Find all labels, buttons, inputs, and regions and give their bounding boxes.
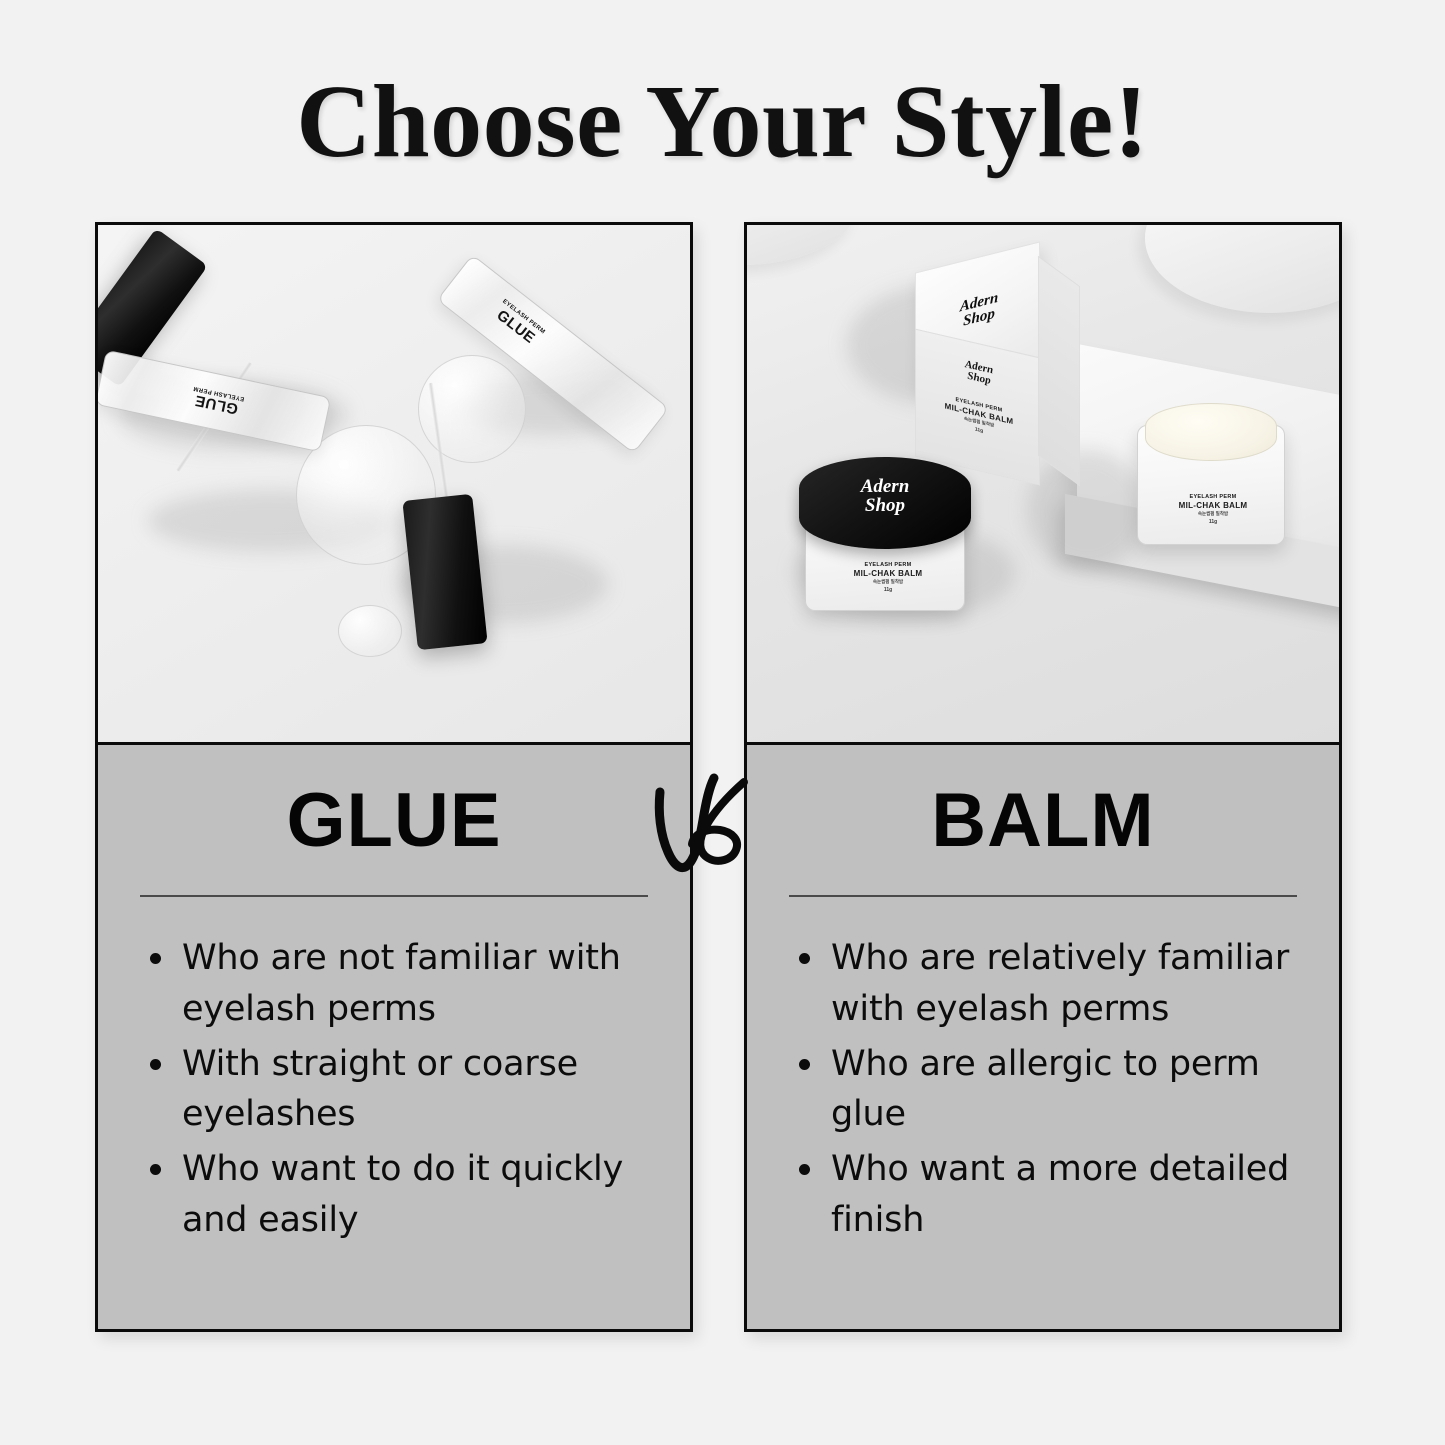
bullet-list-balm: Who are relatively familiar with eyelash… (791, 933, 1305, 1250)
brand-logo: Adern Shop (942, 354, 1016, 393)
title-divider (140, 895, 648, 897)
balm-jar-lid: Adern Shop (799, 457, 971, 549)
list-item: Who are relatively familiar with eyelash… (791, 933, 1305, 1035)
panel-content-glue: GLUE Who are not familiar with eyelash p… (98, 745, 690, 1329)
glue-cap (402, 494, 487, 650)
comparison-container: GLUE EYELASH PERM EYELASH PERM GLUE GLUE… (95, 222, 1342, 1332)
bullet-list-glue: Who are not familiar with eyelash perms … (142, 933, 656, 1250)
balm-jar-label: EYELASH PERM MIL-CHAK BALM 속눈썹펌 밀착밤 11g (1168, 494, 1258, 525)
page-title: Choose Your Style! (0, 70, 1445, 174)
backdrop-disc (1145, 225, 1339, 313)
glass-droplet-icon (338, 605, 402, 657)
brand-logo: Adern Shop (837, 477, 933, 515)
list-item: Who are allergic to perm glue (791, 1039, 1305, 1141)
panel-glue: GLUE EYELASH PERM EYELASH PERM GLUE GLUE… (95, 222, 693, 1332)
product-photo-balm: Adern Shop Adern Shop EYELASH PERM MIL-C… (747, 225, 1339, 745)
title-divider (789, 895, 1297, 897)
category-title-balm: BALM (781, 783, 1305, 859)
panel-balm: Adern Shop Adern Shop EYELASH PERM MIL-C… (744, 222, 1342, 1332)
category-title-glue: GLUE (132, 783, 656, 859)
product-box-side (1038, 256, 1080, 487)
glue-tube-label: GLUE EYELASH PERM (189, 384, 245, 418)
list-item: Who are not familiar with eyelash perms (142, 933, 656, 1035)
photo-shadow (1027, 450, 1147, 570)
panel-content-balm: BALM Who are relatively familiar with ey… (747, 745, 1339, 1329)
product-box-label: EYELASH PERM MIL-CHAK BALM 속눈썹펌 밀착밤 11g (939, 393, 1019, 442)
list-item: Who want to do it quickly and easily (142, 1144, 656, 1246)
glue-tube-label: EYELASH PERM GLUE (490, 299, 546, 350)
list-item: With straight or coarse eyelashes (142, 1039, 656, 1141)
brand-logo: Adern Shop (936, 285, 1022, 336)
list-item: Who want a more detailed finish (791, 1144, 1305, 1246)
backdrop-disc (747, 225, 857, 265)
product-photo-glue: GLUE EYELASH PERM EYELASH PERM GLUE (98, 225, 690, 745)
balm-jar-label: EYELASH PERM MIL-CHAK BALM 속눈썹펌 밀착밤 11g (842, 562, 934, 593)
balm-cream-surface (1145, 403, 1277, 461)
